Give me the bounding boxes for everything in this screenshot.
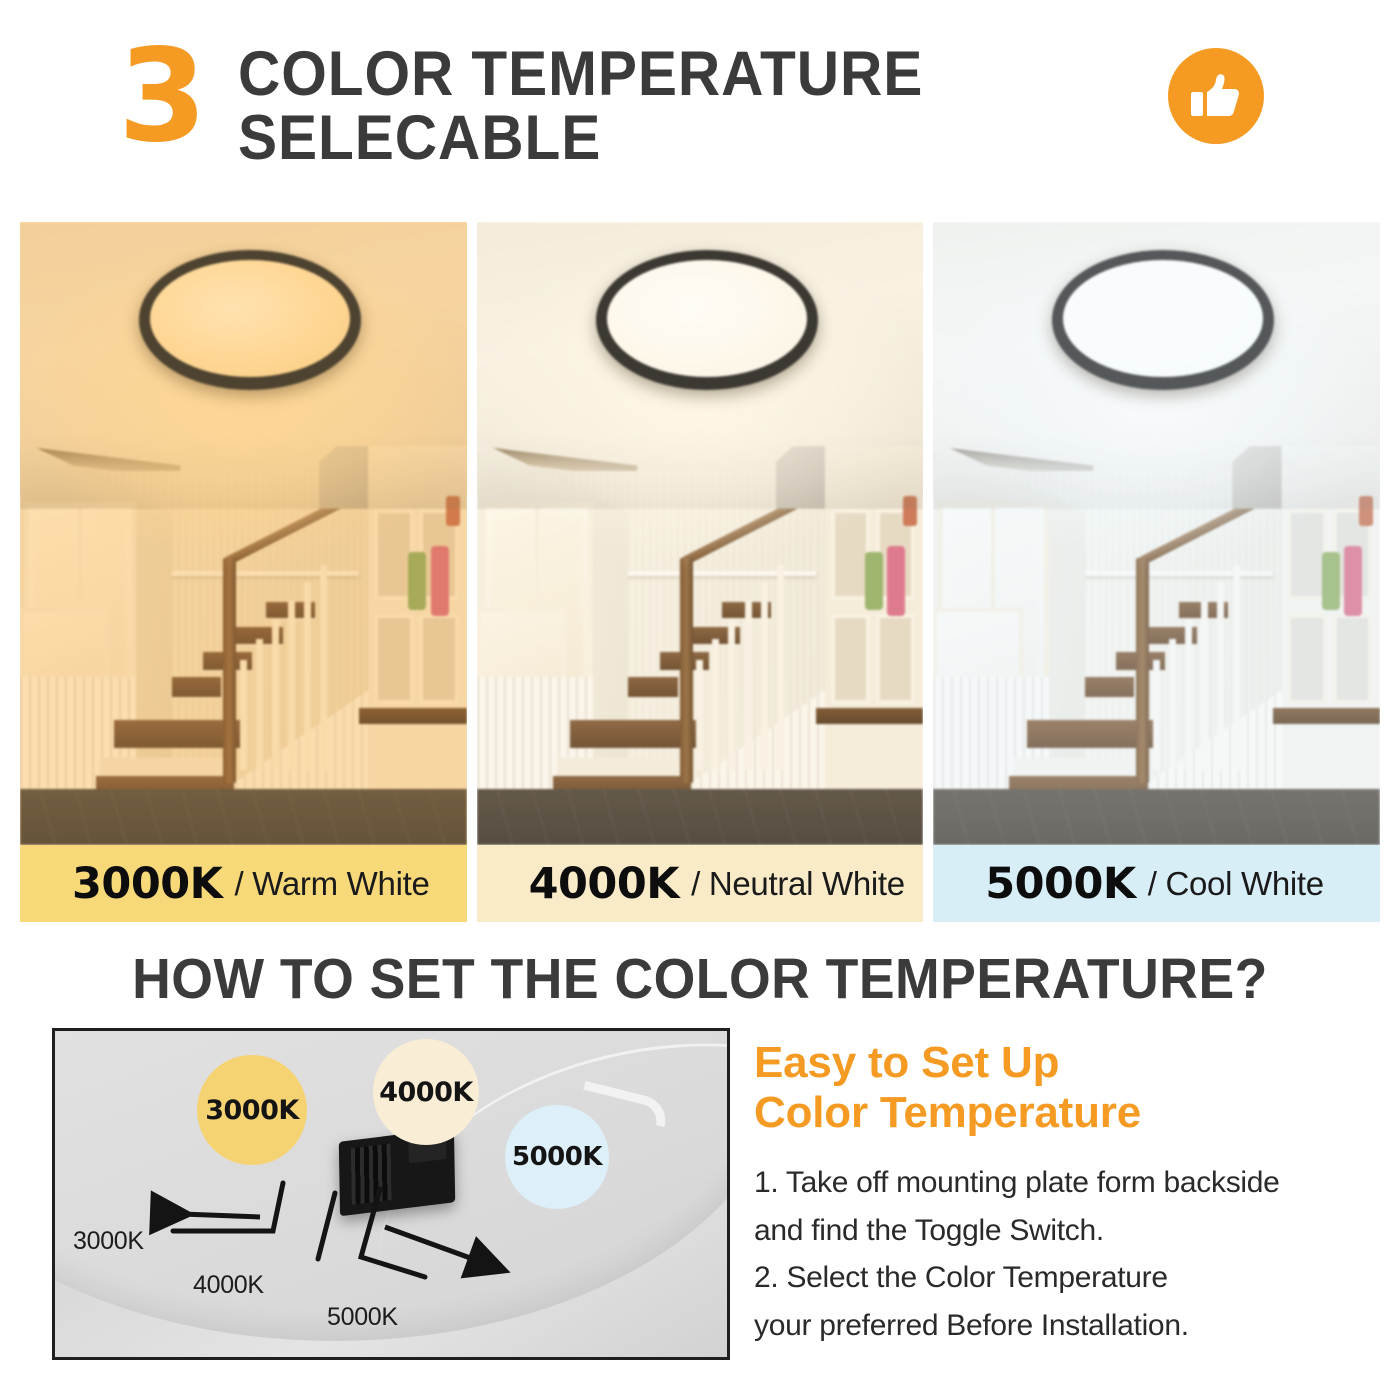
thumbs-up-badge <box>1168 48 1264 144</box>
switch-label-5000k: 5000K <box>327 1303 398 1332</box>
howto-step-line: your preferred Before Installation. <box>754 1302 1382 1349</box>
howto-step-line: 1. Take off mounting plate form backside <box>754 1159 1382 1206</box>
ct-kelvin-label: 5000K <box>985 859 1136 909</box>
header-banner: 3 COLOR TEMPERATURE SELECABLE <box>0 0 1400 205</box>
header-number: 3 <box>118 33 203 161</box>
ct-kelvin-label: 4000K <box>529 859 680 909</box>
howto-instructions: Easy to Set Up Color Temperature 1. Take… <box>754 1038 1382 1349</box>
howto-section-title: HOW TO SET THE COLOR TEMPERATURE? <box>42 946 1358 1012</box>
switch-label-4000k: 4000K <box>193 1271 264 1300</box>
ct-label-bar-3000k: 3000K / Warm White <box>20 845 467 922</box>
scene-photo-5000k <box>933 222 1380 845</box>
page-title-line1: COLOR TEMPERATURE <box>238 39 923 109</box>
page-title-line2: SELECABLE <box>238 106 1056 170</box>
page-title: COLOR TEMPERATURE SELECABLE <box>238 42 1056 171</box>
comparison-panel-4000k: 4000K / Neutral White <box>477 222 924 922</box>
ct-label-bar-4000k: 4000K / Neutral White <box>477 845 924 922</box>
switch-label-3000k: 3000K <box>73 1227 144 1256</box>
color-temperature-comparison-row: 3000K / Warm White <box>20 222 1380 922</box>
comparison-panel-5000k: 5000K / Cool White <box>933 222 1380 922</box>
comparison-panel-3000k: 3000K / Warm White <box>20 222 467 922</box>
howto-steps: 1. Take off mounting plate form backside… <box>754 1159 1382 1349</box>
howto-headline: Easy to Set Up Color Temperature <box>754 1038 1382 1137</box>
ct-kelvin-label: 3000K <box>72 859 223 909</box>
scene-photo-3000k <box>20 222 467 845</box>
ct-name-label: / Cool White <box>1148 865 1324 903</box>
ct-name-label: / Neutral White <box>691 865 905 903</box>
howto-headline-line2: Color Temperature <box>754 1088 1382 1138</box>
scene-photo-4000k <box>477 222 924 845</box>
howto-headline-line1: Easy to Set Up <box>754 1038 1382 1088</box>
ct-name-label: / Warm White <box>235 865 430 903</box>
howto-step-line: 2. Select the Color Temperature <box>754 1254 1382 1301</box>
toggle-switch-photo: 3000K 4000K 5000K 3000K 4000K 5000K <box>52 1028 730 1360</box>
howto-step-line: and find the Toggle Switch. <box>754 1207 1382 1254</box>
ct-label-bar-5000k: 5000K / Cool White <box>933 845 1380 922</box>
thumbs-up-icon <box>1190 70 1242 122</box>
